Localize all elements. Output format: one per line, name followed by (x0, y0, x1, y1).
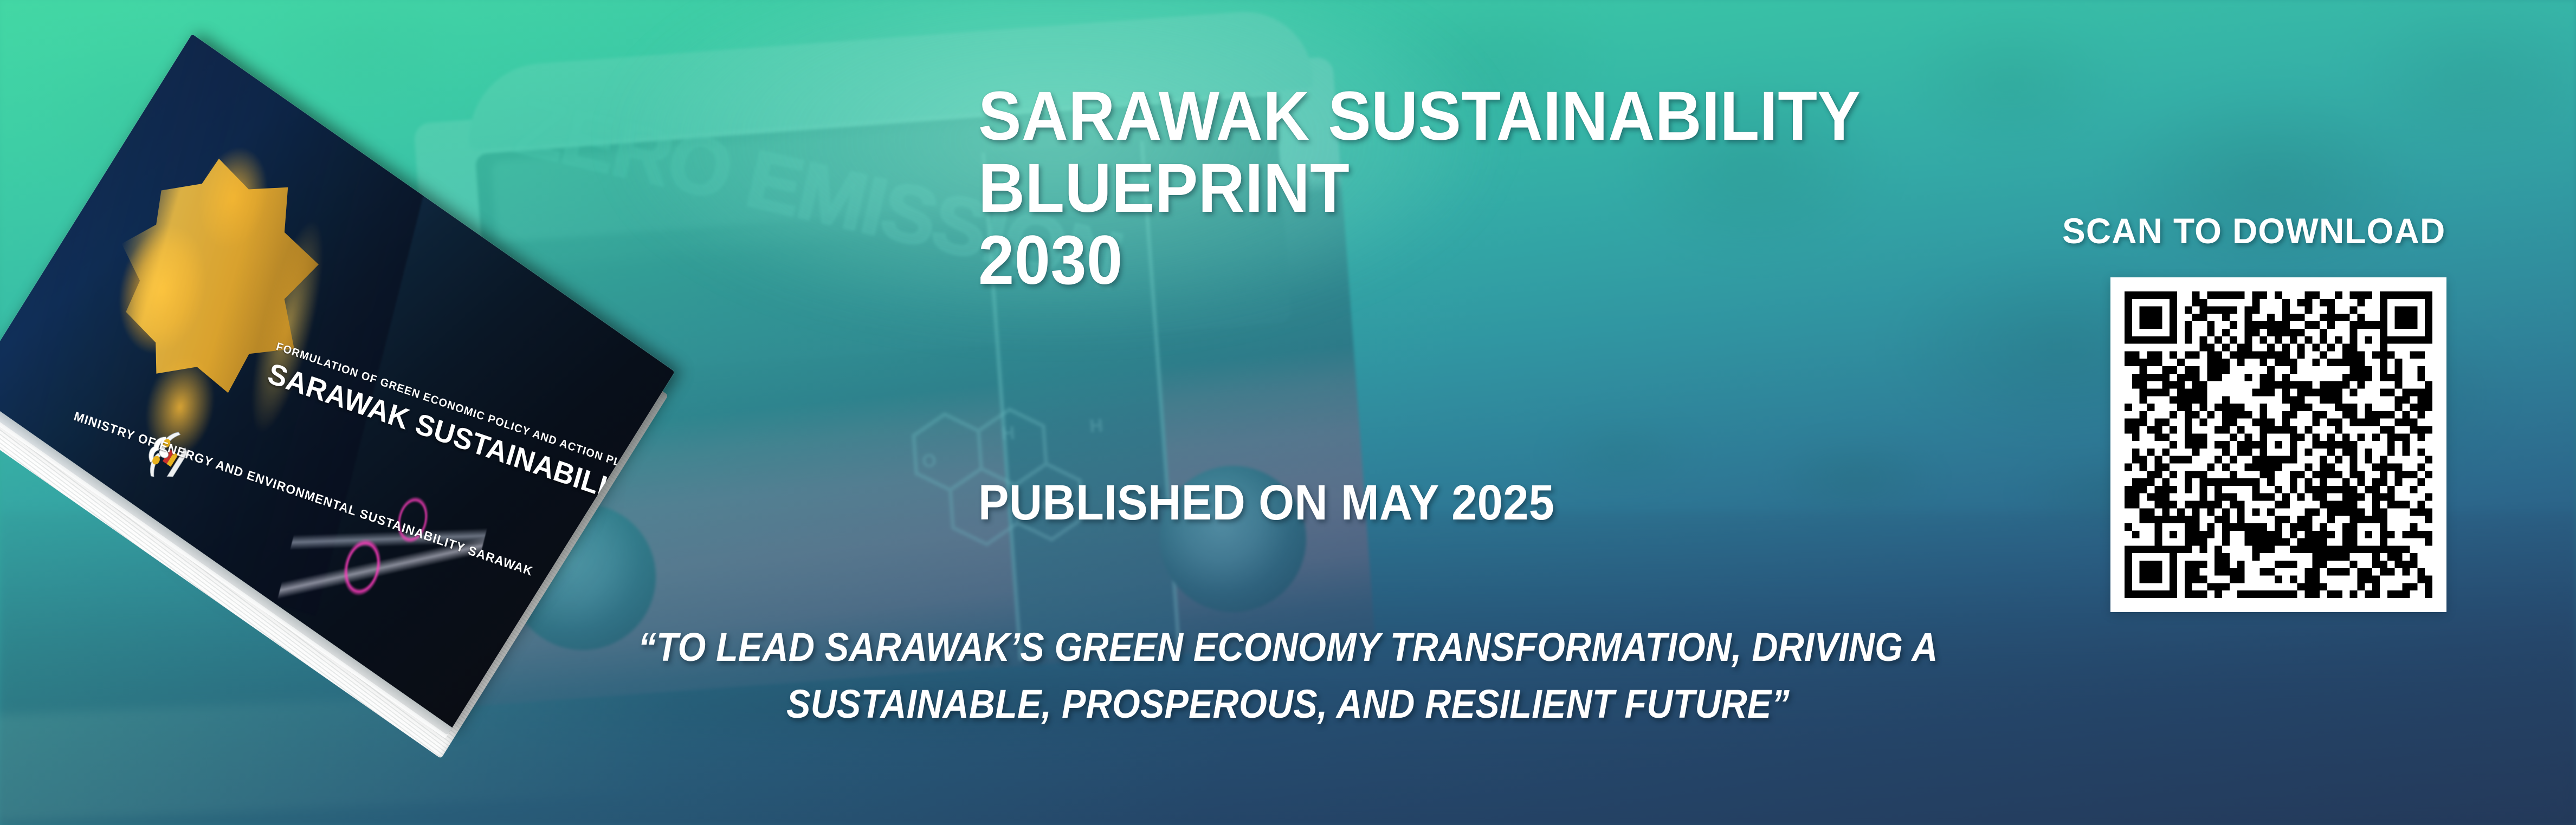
scan-to-download-label: SCAN TO DOWNLOAD (2062, 210, 2445, 251)
page-title: SARAWAK SUSTAINABILITY BLUEPRINT 2030 (978, 80, 1986, 296)
qr-code-icon[interactable] (2125, 291, 2432, 598)
sarawak-blueprint-banner: ZERO EMISSION H H O O (0, 0, 2576, 825)
vision-quote: “TO LEAD SARAWAK’S GREEN ECONOMY TRANSFO… (0, 619, 2576, 732)
qr-code[interactable] (2110, 277, 2446, 612)
book-mockup: MINISTRY OF ENERGY AND ENVIRONMENTAL SUS… (87, 65, 802, 639)
published-date: PUBLISHED ON MAY 2025 (978, 475, 1554, 531)
vision-quote-line-2: SUSTAINABLE, PROSPEROUS, AND RESILIENT F… (129, 675, 2448, 732)
vision-quote-line-1: “TO LEAD SARAWAK’S GREEN ECONOMY TRANSFO… (129, 619, 2448, 675)
